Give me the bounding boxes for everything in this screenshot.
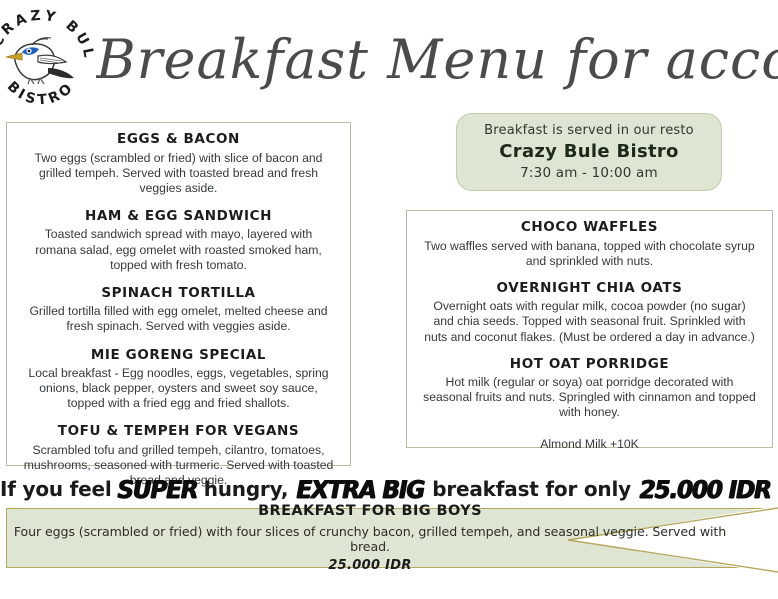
brand-logo: CRAZY BULE BISTRO	[0, 2, 100, 118]
ribbon-price: 25.000 IDR	[328, 558, 411, 573]
menu-item: OVERNIGHT CHIA OATS Overnight oats with …	[419, 281, 760, 345]
ribbon-title: BREAKFAST FOR BIG BOYS	[258, 503, 482, 519]
hours-intro: Breakfast is served in our resto	[484, 123, 694, 138]
sweet-menu-panel: CHOCO WAFFLES Two waffles served with ba…	[406, 210, 773, 448]
dish-description: Toasted sandwich spread with mayo, layer…	[19, 227, 338, 272]
promo-text-part1: If you feel	[0, 477, 112, 501]
promo-banner: If you feel SUPER hungry, EXTRA BIG brea…	[0, 472, 778, 506]
dish-name: CHOCO WAFFLES	[419, 220, 760, 236]
dish-description: Two eggs (scrambled or fried) with slice…	[19, 151, 338, 196]
dish-description: Two waffles served with banana, topped w…	[419, 239, 760, 269]
dish-description: Overnight oats with regular milk, cocoa …	[419, 299, 760, 344]
menu-item: SPINACH TORTILLA Grilled tortilla filled…	[19, 286, 338, 335]
service-hours-box: Breakfast is served in our resto Crazy B…	[456, 113, 722, 191]
dish-name: SPINACH TORTILLA	[19, 286, 338, 302]
menu-item: MIE GORENG SPECIAL Local breakfast - Egg…	[19, 348, 338, 412]
ribbon-content: BREAKFAST FOR BIG BOYS Four eggs (scramb…	[0, 508, 740, 568]
menu-item: EGGS & BACON Two eggs (scrambled or frie…	[19, 132, 338, 196]
promo-shout-extra-big: EXTRA BIG	[296, 475, 424, 504]
dish-name: TOFU & TEMPEH FOR VEGANS	[19, 424, 338, 440]
dish-description: Local breakfast - Egg noodles, eggs, veg…	[19, 366, 338, 411]
hours-time-range: 7:30 am - 10:00 am	[520, 165, 658, 181]
menu-item: CHOCO WAFFLES Two waffles served with ba…	[419, 220, 760, 269]
dish-name: MIE GORENG SPECIAL	[19, 348, 338, 364]
promo-shout-super: SUPER	[118, 475, 198, 504]
menu-item: HOT OAT PORRIDGE Hot milk (regular or so…	[419, 357, 760, 421]
promo-text-part3: breakfast for only	[432, 477, 631, 501]
ribbon-description: Four eggs (scrambled or fried) with four…	[0, 524, 740, 554]
promo-price: 25.000 IDR	[639, 475, 770, 504]
addon-note: Almond Milk +10K	[419, 437, 760, 451]
promo-text-part2: hungry,	[204, 477, 289, 501]
dish-name: HOT OAT PORRIDGE	[419, 357, 760, 373]
dish-name: HAM & EGG SANDWICH	[19, 209, 338, 225]
menu-item: HAM & EGG SANDWICH Toasted sandwich spre…	[19, 209, 338, 273]
dish-description: Hot milk (regular or soya) oat porridge …	[419, 375, 760, 420]
dish-description: Grilled tortilla filled with egg omelet,…	[19, 304, 338, 334]
svg-text:BISTRO: BISTRO	[4, 79, 78, 109]
dish-name: EGGS & BACON	[19, 132, 338, 148]
page-title-text: Breakfast Menu for accommodated guests	[96, 28, 778, 91]
page-title: Breakfast Menu for accommodated guests	[96, 16, 778, 104]
dish-name: OVERNIGHT CHIA OATS	[419, 281, 760, 297]
savory-menu-panel: EGGS & BACON Two eggs (scrambled or frie…	[6, 122, 351, 466]
hours-restaurant-name: Crazy Bule Bistro	[499, 141, 678, 162]
big-boys-ribbon: BREAKFAST FOR BIG BOYS Four eggs (scramb…	[0, 506, 778, 574]
menu-page: CRAZY BULE BISTRO	[0, 0, 778, 599]
bird-illustration	[6, 38, 74, 84]
